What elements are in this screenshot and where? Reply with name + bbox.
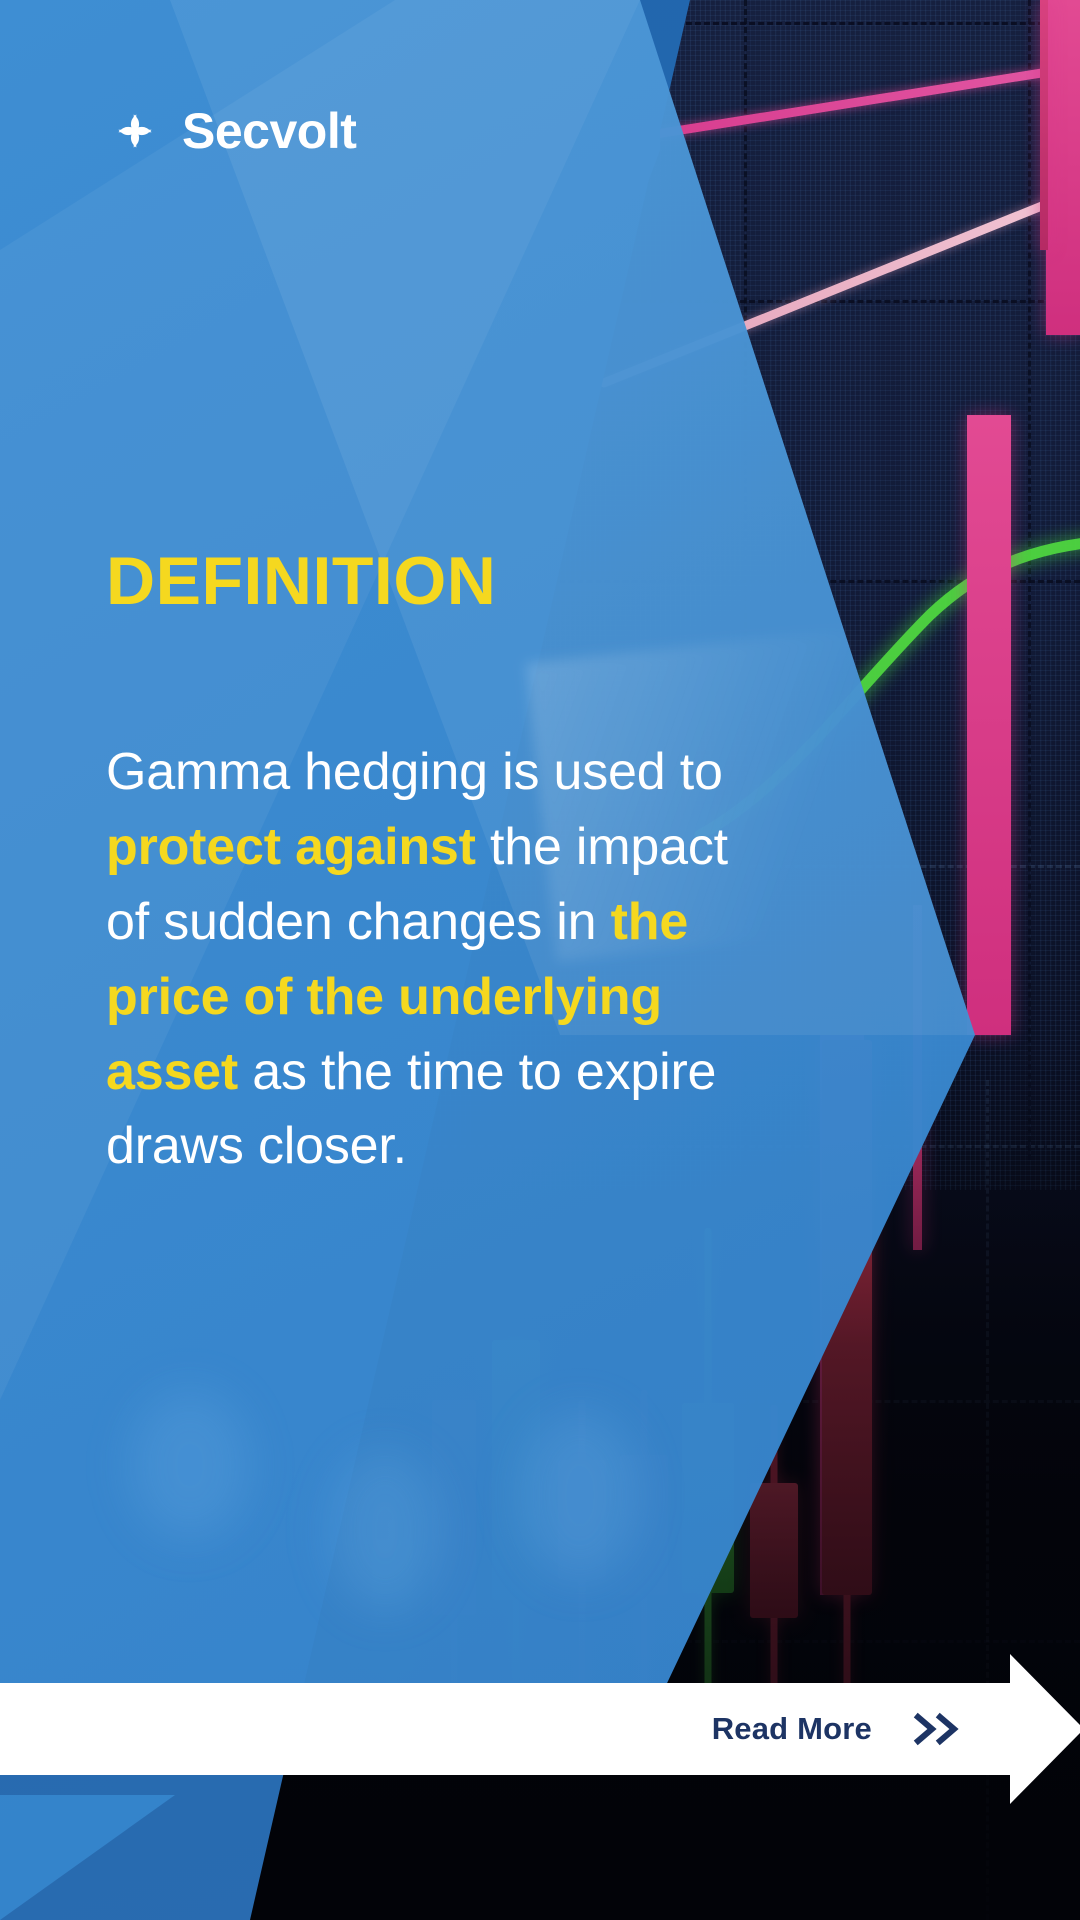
read-more-button[interactable]: Read More [0, 1683, 1010, 1775]
body-segment-highlight: protect against [106, 818, 476, 876]
poster-canvas: Secvolt DEFINITION Gamma hedging is used… [0, 0, 1080, 1920]
quatrefoil-knot-icon [104, 100, 166, 162]
geo-glow [130, 1390, 250, 1540]
page-title: DEFINITION [106, 547, 496, 615]
body-segment: Gamma hedging is used to [106, 743, 723, 801]
brand-logo[interactable]: Secvolt [104, 100, 356, 162]
geo-glow [520, 1410, 640, 1580]
read-more-label: Read More [712, 1711, 872, 1747]
geo-glow [330, 1450, 440, 1610]
double-chevron-right-icon [912, 1711, 966, 1747]
definition-body-text: Gamma hedging is used to protect against… [106, 735, 766, 1184]
brand-name: Secvolt [182, 106, 356, 156]
read-more-content: Read More [712, 1711, 1010, 1747]
read-more-arrow-point[interactable] [1010, 1654, 1080, 1804]
